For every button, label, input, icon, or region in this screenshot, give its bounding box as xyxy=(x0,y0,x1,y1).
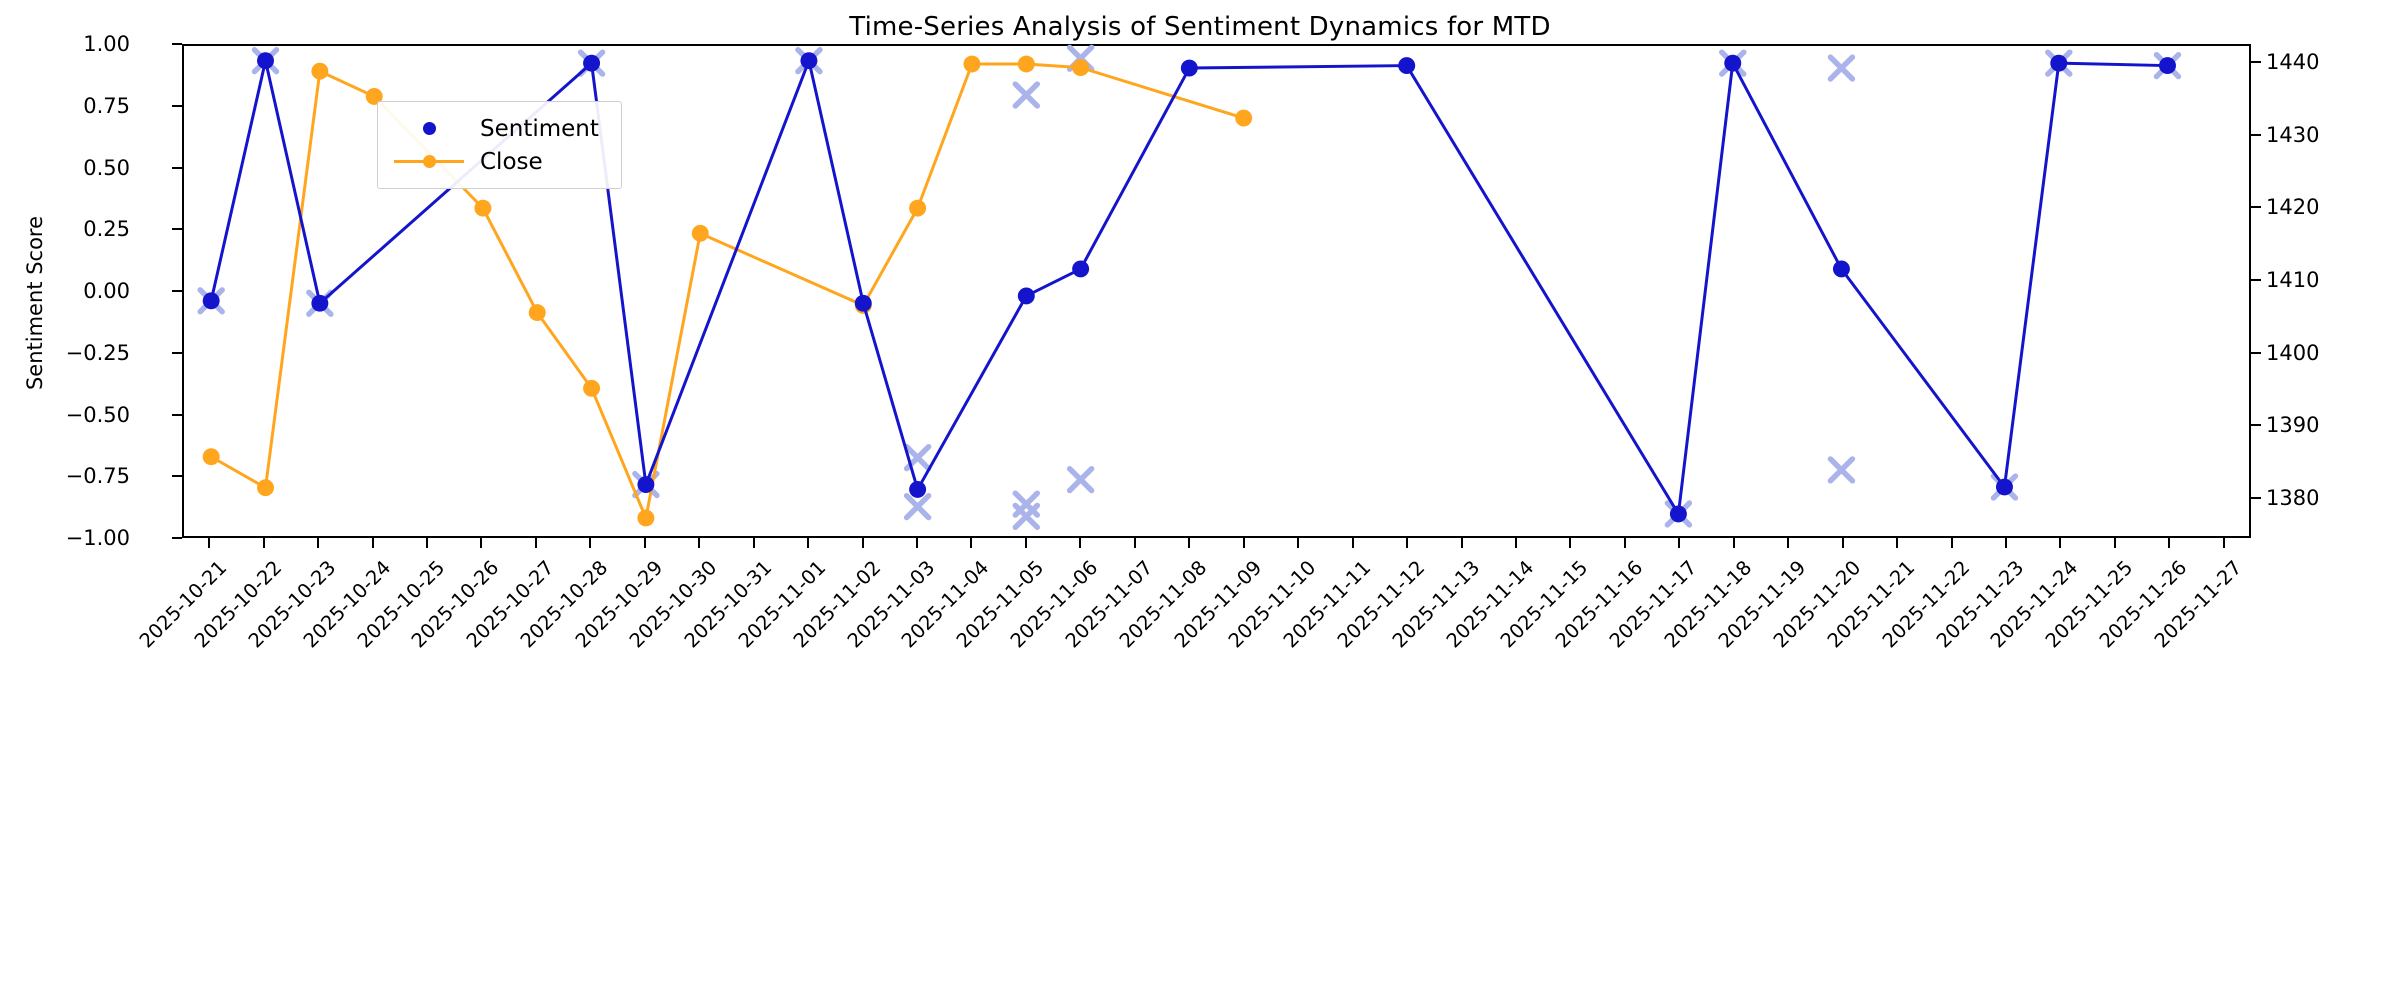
y-tick-mark-left xyxy=(172,228,182,230)
x-tick-mark xyxy=(2168,538,2170,548)
x-tick-mark xyxy=(372,538,374,548)
y-tick-mark-left xyxy=(172,475,182,477)
data-point-marker xyxy=(2159,57,2176,74)
data-point-marker xyxy=(1235,110,1252,127)
y-tick-mark-left xyxy=(172,290,182,292)
scatter-x-marker xyxy=(907,496,929,518)
x-tick-mark xyxy=(644,538,646,548)
data-point-marker xyxy=(529,304,546,321)
y-tick-label-left: 1.00 xyxy=(0,32,130,56)
y-tick-mark-left xyxy=(172,537,182,539)
y-tick-label-left: 0.25 xyxy=(0,217,130,241)
legend-marker-close xyxy=(392,152,466,172)
data-point-marker xyxy=(1833,261,1850,278)
data-point-marker xyxy=(855,295,872,312)
x-tick-mark xyxy=(916,538,918,548)
y-tick-mark-right xyxy=(2251,424,2261,426)
data-point-marker xyxy=(1072,59,1089,76)
data-point-marker xyxy=(583,380,600,397)
x-tick-mark xyxy=(1624,538,1626,548)
y-tick-label-right: 1430 xyxy=(2266,123,2396,147)
y-tick-mark-left xyxy=(172,43,182,45)
x-tick-mark xyxy=(1515,538,1517,548)
x-tick-mark xyxy=(480,538,482,548)
data-point-marker xyxy=(257,479,274,496)
x-tick-mark xyxy=(2114,538,2116,548)
data-point-marker xyxy=(257,52,274,69)
data-point-marker xyxy=(637,510,654,527)
data-point-marker xyxy=(1018,56,1035,73)
data-point-marker xyxy=(583,55,600,72)
y-tick-label-right: 1390 xyxy=(2266,413,2396,437)
x-tick-mark xyxy=(1733,538,1735,548)
data-point-marker xyxy=(474,200,491,217)
x-tick-mark xyxy=(1569,538,1571,548)
plot-area: Sentiment Close xyxy=(182,44,2251,538)
circle-marker-icon xyxy=(423,122,436,135)
x-tick-mark xyxy=(208,538,210,548)
x-tick-mark xyxy=(1352,538,1354,548)
y-tick-label-right: 1420 xyxy=(2266,195,2396,219)
y-tick-label-left: −0.50 xyxy=(0,403,130,427)
x-tick-mark xyxy=(1896,538,1898,548)
x-tick-mark xyxy=(1678,538,1680,548)
x-tick-mark xyxy=(753,538,755,548)
y-tick-label-left: −0.75 xyxy=(0,464,130,488)
x-tick-mark xyxy=(1406,538,1408,548)
x-tick-mark xyxy=(535,538,537,548)
legend-label-sentiment: Sentiment xyxy=(466,116,599,142)
y-tick-mark-right xyxy=(2251,206,2261,208)
series-line xyxy=(211,64,1244,518)
y-tick-label-left: 0.00 xyxy=(0,279,130,303)
y-tick-mark-left xyxy=(172,352,182,354)
legend-label-close: Close xyxy=(466,149,543,175)
y-tick-label-left: 0.50 xyxy=(0,156,130,180)
data-point-marker xyxy=(1398,57,1415,74)
chart-legend[interactable]: Sentiment Close xyxy=(377,101,622,189)
data-point-marker xyxy=(311,295,328,312)
data-point-marker xyxy=(963,56,980,73)
x-tick-mark xyxy=(1787,538,1789,548)
scatter-x-marker xyxy=(1070,469,1092,491)
x-tick-mark xyxy=(2005,538,2007,548)
x-tick-mark xyxy=(317,538,319,548)
x-tick-mark xyxy=(2223,538,2225,548)
data-point-marker xyxy=(1670,506,1687,523)
data-point-marker xyxy=(1996,479,2013,496)
x-tick-mark xyxy=(1842,538,1844,548)
x-tick-mark xyxy=(1134,538,1136,548)
legend-marker-sentiment xyxy=(392,119,466,139)
y-tick-mark-right xyxy=(2251,134,2261,136)
x-tick-mark xyxy=(426,538,428,548)
chart-title: Time-Series Analysis of Sentiment Dynami… xyxy=(0,12,2400,42)
y-tick-mark-right xyxy=(2251,497,2261,499)
y-tick-label-right: 1380 xyxy=(2266,486,2396,510)
data-point-marker xyxy=(1724,55,1741,72)
scatter-x-marker xyxy=(1015,84,1037,106)
x-tick-mark xyxy=(1461,538,1463,548)
y-tick-label-right: 1410 xyxy=(2266,268,2396,292)
data-point-marker xyxy=(637,476,654,493)
data-point-marker xyxy=(1018,287,1035,304)
data-point-marker xyxy=(203,448,220,465)
data-point-marker xyxy=(203,292,220,309)
x-tick-mark xyxy=(1188,538,1190,548)
data-point-marker xyxy=(800,52,817,69)
legend-item-sentiment[interactable]: Sentiment xyxy=(392,112,599,145)
x-tick-mark xyxy=(862,538,864,548)
x-tick-mark xyxy=(1297,538,1299,548)
y-tick-mark-right xyxy=(2251,352,2261,354)
y-tick-mark-left xyxy=(172,167,182,169)
data-point-marker xyxy=(311,63,328,80)
data-point-marker xyxy=(909,481,926,498)
x-tick-mark xyxy=(807,538,809,548)
scatter-x-marker xyxy=(1830,459,1852,481)
x-tick-mark xyxy=(263,538,265,548)
x-tick-mark xyxy=(1025,538,1027,548)
y-tick-label-right: 1440 xyxy=(2266,50,2396,74)
legend-item-close[interactable]: Close xyxy=(392,145,599,178)
y-tick-mark-right xyxy=(2251,61,2261,63)
x-tick-mark xyxy=(589,538,591,548)
x-tick-mark xyxy=(698,538,700,548)
scatter-x-marker xyxy=(1015,505,1037,527)
y-tick-label-left: 0.75 xyxy=(0,94,130,118)
x-tick-mark xyxy=(1243,538,1245,548)
y-tick-label-left: −1.00 xyxy=(0,526,130,550)
data-point-marker xyxy=(2050,55,2067,72)
data-point-marker xyxy=(1181,60,1198,77)
y-tick-label-left: −0.25 xyxy=(0,341,130,365)
data-point-marker xyxy=(1072,261,1089,278)
y-tick-label-right: 1400 xyxy=(2266,341,2396,365)
x-tick-mark xyxy=(1079,538,1081,548)
data-point-marker xyxy=(692,225,709,242)
circle-marker-icon xyxy=(423,155,436,168)
x-tick-mark xyxy=(2059,538,2061,548)
y-tick-mark-left xyxy=(172,414,182,416)
figure-canvas: Time-Series Analysis of Sentiment Dynami… xyxy=(0,0,2400,1000)
x-tick-mark xyxy=(1951,538,1953,548)
x-tick-mark xyxy=(970,538,972,548)
scatter-x-marker xyxy=(1830,57,1852,79)
data-point-marker xyxy=(909,200,926,217)
close-series-group xyxy=(203,56,1252,527)
y-tick-mark-left xyxy=(172,105,182,107)
y-tick-mark-right xyxy=(2251,279,2261,281)
